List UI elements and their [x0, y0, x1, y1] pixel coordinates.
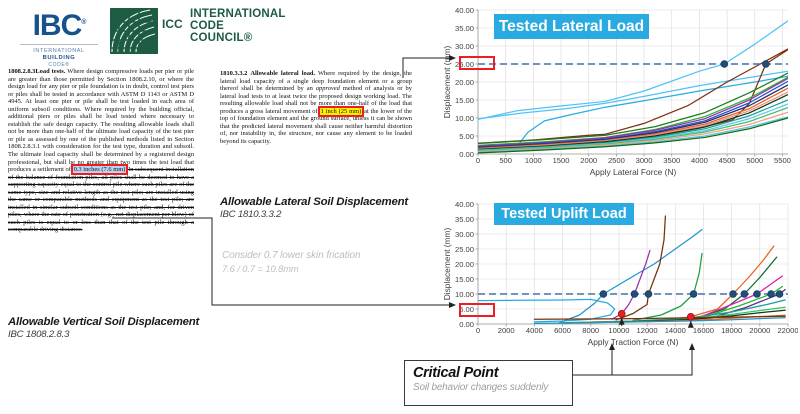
section-number-left: 1808.2.8.3: [8, 68, 35, 75]
threshold-marker-point: [721, 61, 728, 68]
threshold-marker-point: [762, 61, 769, 68]
caption-vertical-subtitle: IBC 1808.2.8.3: [8, 329, 199, 340]
y-tick-label: 30.00: [455, 42, 474, 51]
y-tick-label: 10.00: [455, 114, 474, 123]
y-tick-label: 30.00: [455, 230, 474, 239]
x-tick-label: 3000: [636, 156, 653, 165]
critical-point-title: Critical Point: [413, 365, 564, 381]
x-tick-label: 2500: [608, 156, 625, 165]
threshold-marker-point: [741, 291, 748, 298]
y-tick-label: 25.00: [455, 245, 474, 254]
x-tick-label: 18000: [721, 326, 742, 335]
x-tick-label: 4500: [719, 156, 736, 165]
icc-line3: COUNCIL®: [190, 32, 286, 44]
x-tick-label: 16000: [693, 326, 714, 335]
x-axis-title: Apply Lateral Force (N): [590, 167, 677, 177]
x-tick-label: 4000: [526, 326, 543, 335]
x-tick-label: 12000: [637, 326, 658, 335]
y-tick-label: 15.00: [455, 275, 474, 284]
divider: [20, 44, 98, 45]
x-tick-label: 4000: [691, 156, 708, 165]
x-tick-label: 10000: [608, 326, 629, 335]
y-tick-label: 40.00: [455, 6, 474, 15]
caption-vertical-displacement: Allowable Vertical Soil Displacement IBC…: [8, 316, 199, 340]
logo-bar: IBC® INTERNATIONAL BUILDING CODE®: [0, 0, 300, 62]
skin-note-line2: 7.6 / 0.7 = 10.8mm: [222, 263, 360, 274]
threshold-marker-point: [730, 291, 737, 298]
y-axis-title: Displacement (mm): [442, 227, 452, 300]
y-tick-label: 20.00: [455, 260, 474, 269]
skin-friction-note: Consider 0.7 lower skin frication 7.6 / …: [222, 250, 360, 274]
section-body-left-after: In subsequent installation of the balanc…: [8, 166, 194, 233]
icc-logo: ICC INTERNATIONAL CODE COUNCIL®: [110, 8, 286, 54]
x-tick-label: 2000: [580, 156, 597, 165]
threshold-marker-point: [690, 291, 697, 298]
threshold-marker-point: [754, 291, 761, 298]
critical-point-marker: [687, 313, 694, 320]
chart-top-title-banner: Tested Lateral Load: [494, 14, 649, 39]
caption-vertical-title: Allowable Vertical Soil Displacement: [8, 316, 199, 328]
threshold-marker-point: [776, 291, 783, 298]
x-tick-label: 0: [476, 156, 480, 165]
x-tick-label: 5500: [774, 156, 791, 165]
ibc-tagline-line2: BUILDING: [20, 55, 98, 62]
y-tick-label: 15.00: [455, 96, 474, 105]
icc-line1: INTERNATIONAL: [190, 8, 286, 20]
y-tick-label: 0.00: [459, 150, 474, 159]
threshold-highlight-10mm: [459, 303, 495, 317]
section-body-left-before: Where design compressive loads per pier …: [8, 68, 194, 173]
x-tick-label: 0: [476, 326, 480, 335]
ibc-tagline-line1: INTERNATIONAL: [20, 48, 98, 55]
caption-lateral-title: Allowable Lateral Soil Displacement: [220, 196, 408, 208]
y-tick-label: 0.00: [459, 320, 474, 329]
highlight-lateral-displacement: 1 inch (25 mm): [320, 108, 363, 115]
x-tick-label: 2000: [498, 326, 515, 335]
x-axis-title: Apply Traction Force (N): [588, 337, 679, 347]
x-tick-label: 1000: [525, 156, 542, 165]
icc-globe-icon: [110, 8, 158, 54]
ibc-logo: IBC® INTERNATIONAL BUILDING CODE®: [20, 8, 98, 69]
threshold-marker-point: [768, 291, 775, 298]
ibc-wordmark: IBC®: [20, 8, 98, 41]
x-tick-label: 1500: [553, 156, 570, 165]
critical-point-subtitle: Soil behavior changes suddenly: [413, 382, 564, 393]
y-tick-label: 35.00: [455, 24, 474, 33]
threshold-marker-point: [631, 291, 638, 298]
y-tick-label: 40.00: [455, 200, 474, 209]
icc-abbr: ICC: [162, 17, 183, 31]
section-heading-mid: Allowable lateral load.: [250, 70, 315, 77]
y-tick-label: 20.00: [455, 78, 474, 87]
threshold-highlight-25mm: [459, 56, 495, 70]
x-tick-label: 5000: [746, 156, 763, 165]
y-tick-label: 5.00: [459, 132, 474, 141]
code-text-1810: 1810.3.3.2 Allowable lateral load. Where…: [220, 70, 412, 145]
x-tick-label: 6000: [554, 326, 571, 335]
x-tick-label: 14000: [665, 326, 686, 335]
icc-line2: CODE: [190, 20, 286, 32]
threshold-marker-point: [600, 291, 607, 298]
x-tick-label: 22000: [777, 326, 798, 335]
x-tick-label: 3500: [663, 156, 680, 165]
approved-italic-word: approved: [316, 85, 340, 92]
threshold-marker-point: [645, 291, 652, 298]
registered-mark-icon: ®: [81, 19, 85, 26]
section-heading-left: Load tests.: [35, 68, 65, 75]
x-tick-label: 20000: [749, 326, 770, 335]
critical-point-callout: Critical Point Soil behavior changes sud…: [404, 360, 573, 406]
x-tick-label: 8000: [582, 326, 599, 335]
chart-bottom-title-banner: Tested Uplift Load: [494, 203, 634, 225]
critical-point-marker: [618, 310, 625, 317]
y-tick-label: 35.00: [455, 215, 474, 224]
caption-lateral-displacement: Allowable Lateral Soil Displacement IBC …: [220, 196, 408, 220]
y-axis-title: Displacement (mm): [442, 45, 452, 118]
x-tick-label: 500: [499, 156, 512, 165]
highlight-vertical-displacement: 0.3 inches (7.6 mm): [73, 166, 127, 173]
caption-lateral-subtitle: IBC 1810.3.3.2: [220, 209, 408, 220]
y-tick-label: 10.00: [455, 290, 474, 299]
code-text-1808: 1808.2.8.3Load tests. Where design compr…: [8, 68, 194, 234]
section-number-mid: 1810.3.3.2: [220, 70, 247, 77]
skin-note-line1: Consider 0.7 lower skin frication: [222, 250, 360, 261]
icc-wordmark: INTERNATIONAL CODE COUNCIL®: [190, 8, 286, 45]
